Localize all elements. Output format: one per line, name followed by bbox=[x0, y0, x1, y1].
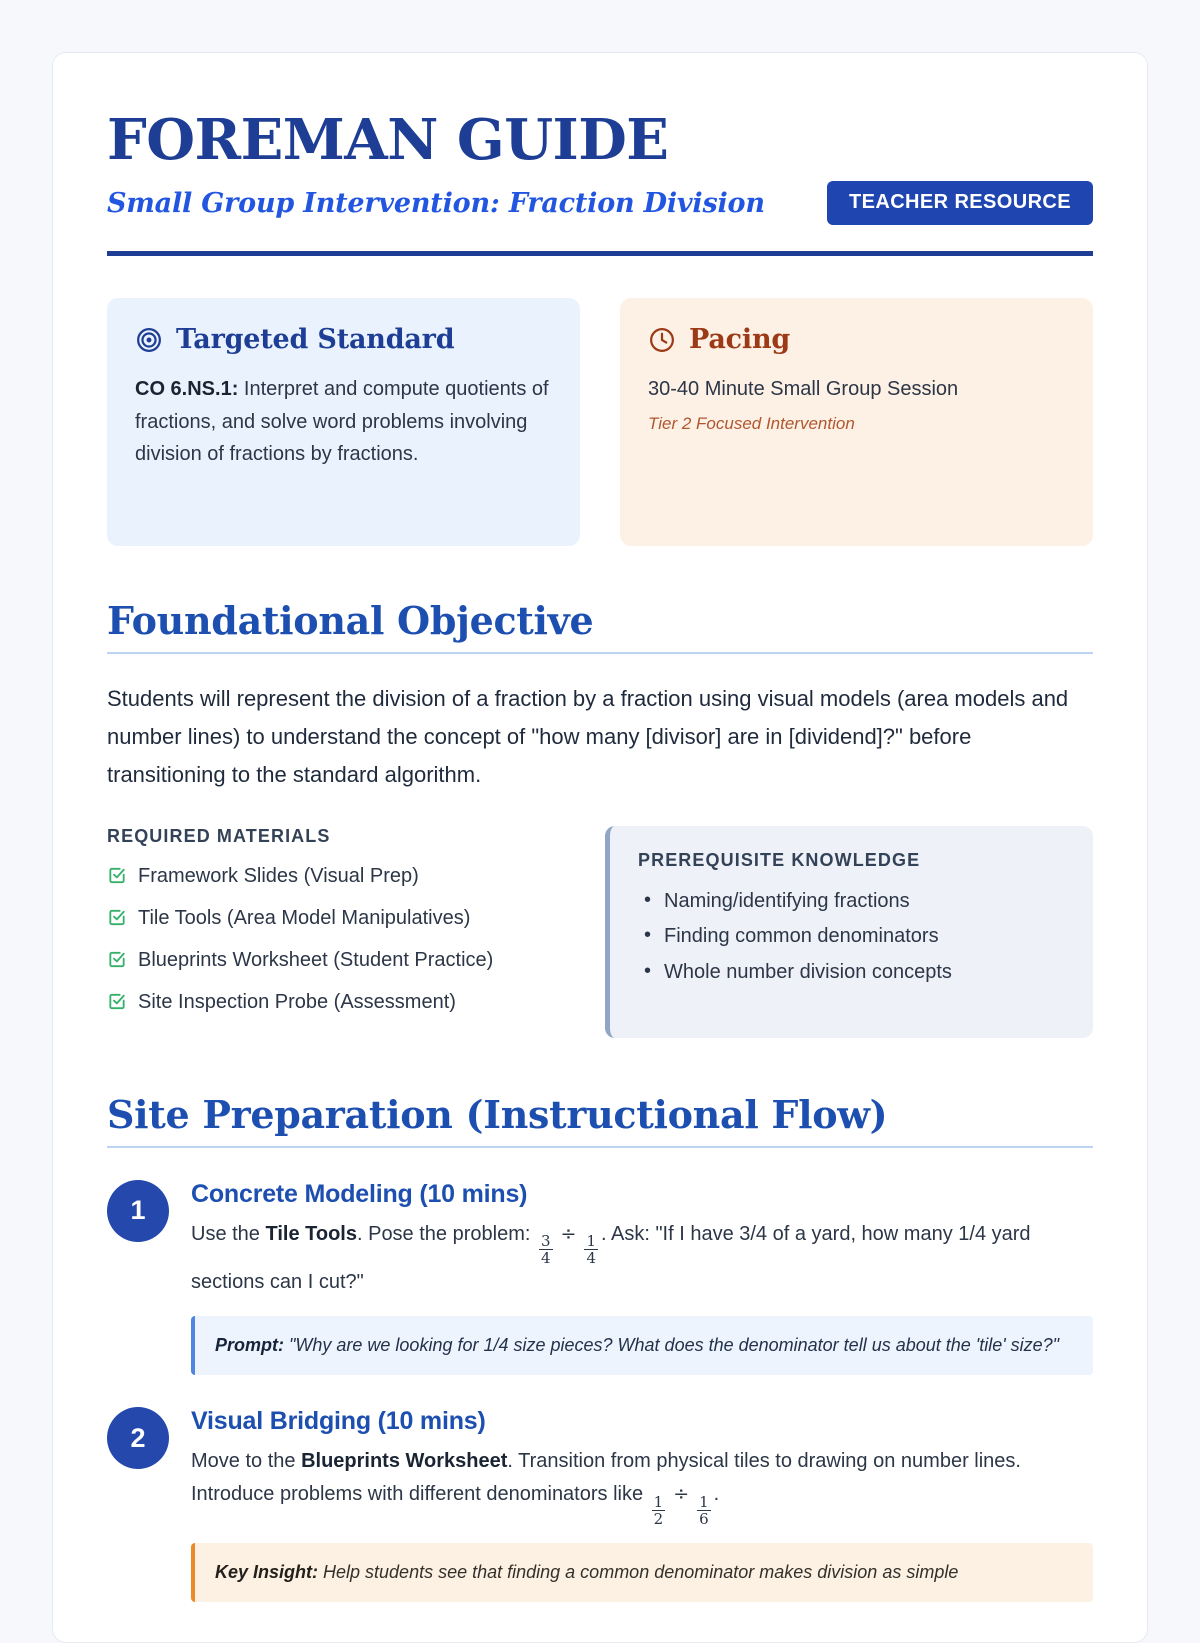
subtitle-row: Small Group Intervention: Fraction Divis… bbox=[107, 181, 1093, 225]
standard-code: CO 6.NS.1: bbox=[135, 378, 238, 400]
page-title: FOREMAN GUIDE bbox=[107, 111, 1093, 169]
required-materials-block: REQUIRED MATERIALS Framework Slides (Vis… bbox=[107, 826, 569, 1030]
target-icon bbox=[135, 326, 163, 354]
info-card-row: Targeted Standard CO 6.NS.1: Interpret a… bbox=[107, 298, 1093, 546]
prerequisite-list: Naming/identifying fractions Finding com… bbox=[638, 885, 1065, 988]
material-label: Site Inspection Probe (Assessment) bbox=[138, 987, 456, 1018]
step-number-badge: 1 bbox=[107, 1180, 169, 1242]
callout-label: Key Insight: bbox=[215, 1562, 318, 1582]
step-description: Move to the Blueprints Worksheet. Transi… bbox=[191, 1445, 1093, 1527]
prerequisite-box: PREREQUISITE KNOWLEDGE Naming/identifyin… bbox=[605, 826, 1093, 1038]
checkbox-checked-icon bbox=[107, 906, 127, 937]
document-header: FOREMAN GUIDE Small Group Intervention: … bbox=[107, 111, 1093, 256]
flow-step: 2 Visual Bridging (10 mins) Move to the … bbox=[107, 1405, 1093, 1602]
checkbox-checked-icon bbox=[107, 864, 127, 895]
prerequisite-heading: PREREQUISITE KNOWLEDGE bbox=[638, 850, 1065, 871]
step-title: Concrete Modeling (10 mins) bbox=[191, 1180, 1093, 1209]
checkbox-checked-icon bbox=[107, 948, 127, 979]
flow-step: 1 Concrete Modeling (10 mins) Use the Ti… bbox=[107, 1178, 1093, 1375]
document-card: FOREMAN GUIDE Small Group Intervention: … bbox=[52, 52, 1148, 1643]
callout-text: Help students see that finding a common … bbox=[318, 1562, 958, 1582]
fraction-denominator: 4 bbox=[584, 1249, 598, 1266]
list-item: Site Inspection Probe (Assessment) bbox=[107, 987, 569, 1021]
step-text-before: Move to the bbox=[191, 1450, 301, 1472]
step-text-mid: . Pose the problem: bbox=[357, 1223, 536, 1245]
card-header: Targeted Standard bbox=[135, 324, 552, 355]
fraction-denominator: 4 bbox=[539, 1249, 553, 1266]
card-header: Pacing bbox=[648, 324, 1065, 355]
material-label: Framework Slides (Visual Prep) bbox=[138, 861, 419, 892]
list-item: Tile Tools (Area Model Manipulatives) bbox=[107, 903, 569, 937]
fraction-numerator: 3 bbox=[539, 1233, 553, 1249]
checkbox-checked-icon bbox=[107, 990, 127, 1021]
fraction-numerator: 1 bbox=[652, 1494, 666, 1510]
objective-text: Students will represent the division of … bbox=[107, 680, 1093, 793]
prerequisite-block: PREREQUISITE KNOWLEDGE Naming/identifyin… bbox=[605, 826, 1093, 1038]
division-operator: ÷ bbox=[561, 1223, 577, 1245]
clock-icon bbox=[648, 326, 676, 354]
fraction-denominator: 6 bbox=[697, 1510, 711, 1527]
card-title: Targeted Standard bbox=[176, 324, 454, 355]
fraction-divisor: 16 bbox=[697, 1494, 711, 1527]
section-heading-objective: Foundational Objective bbox=[107, 598, 1093, 654]
list-item: Naming/identifying fractions bbox=[638, 885, 1065, 917]
material-label: Blueprints Worksheet (Student Practice) bbox=[138, 945, 493, 976]
pacing-duration: 30-40 Minute Small Group Session bbox=[648, 373, 1065, 405]
list-item: Finding common denominators bbox=[638, 920, 1065, 952]
step-title: Visual Bridging (10 mins) bbox=[191, 1407, 1093, 1436]
division-operator: ÷ bbox=[673, 1483, 689, 1505]
pacing-card: Pacing 30-40 Minute Small Group Session … bbox=[620, 298, 1093, 546]
pacing-tier-note: Tier 2 Focused Intervention bbox=[648, 414, 1065, 434]
fraction-numerator: 1 bbox=[697, 1494, 711, 1510]
key-insight-callout: Key Insight: Help students see that find… bbox=[191, 1543, 1093, 1602]
card-title: Pacing bbox=[689, 324, 790, 355]
fraction-dividend: 34 bbox=[539, 1233, 553, 1266]
callout-text: "Why are we looking for 1/4 size pieces?… bbox=[284, 1335, 1059, 1355]
materials-list: Framework Slides (Visual Prep) Tile Tool… bbox=[107, 861, 569, 1022]
fraction-dividend: 12 bbox=[652, 1494, 666, 1527]
callout-label: Prompt: bbox=[215, 1335, 284, 1355]
header-divider bbox=[107, 251, 1093, 256]
materials-prereq-row: REQUIRED MATERIALS Framework Slides (Vis… bbox=[107, 826, 1093, 1038]
step-bold-term: Tile Tools bbox=[265, 1223, 357, 1245]
standard-description: CO 6.NS.1: Interpret and compute quotien… bbox=[135, 373, 552, 470]
section-heading-flow: Site Preparation (Instructional Flow) bbox=[107, 1092, 1093, 1148]
step-body: Visual Bridging (10 mins) Move to the Bl… bbox=[191, 1405, 1093, 1602]
list-item: Blueprints Worksheet (Student Practice) bbox=[107, 945, 569, 979]
step-description: Use the Tile Tools. Pose the problem: 34… bbox=[191, 1218, 1093, 1300]
fraction-divisor: 14 bbox=[584, 1233, 598, 1266]
step-bold-term: Blueprints Worksheet bbox=[301, 1450, 507, 1472]
materials-heading: REQUIRED MATERIALS bbox=[107, 826, 569, 847]
fraction-numerator: 1 bbox=[584, 1233, 598, 1249]
step-text-before: Use the bbox=[191, 1223, 265, 1245]
teacher-resource-badge: TEACHER RESOURCE bbox=[827, 181, 1093, 225]
step-number-badge: 2 bbox=[107, 1407, 169, 1469]
prompt-callout: Prompt: "Why are we looking for 1/4 size… bbox=[191, 1316, 1093, 1375]
targeted-standard-card: Targeted Standard CO 6.NS.1: Interpret a… bbox=[107, 298, 580, 546]
list-item: Whole number division concepts bbox=[638, 956, 1065, 988]
fraction-denominator: 2 bbox=[652, 1510, 666, 1527]
page-subtitle: Small Group Intervention: Fraction Divis… bbox=[107, 188, 765, 219]
list-item: Framework Slides (Visual Prep) bbox=[107, 861, 569, 895]
step-text-after: . bbox=[714, 1483, 720, 1505]
material-label: Tile Tools (Area Model Manipulatives) bbox=[138, 903, 470, 934]
step-body: Concrete Modeling (10 mins) Use the Tile… bbox=[191, 1178, 1093, 1375]
